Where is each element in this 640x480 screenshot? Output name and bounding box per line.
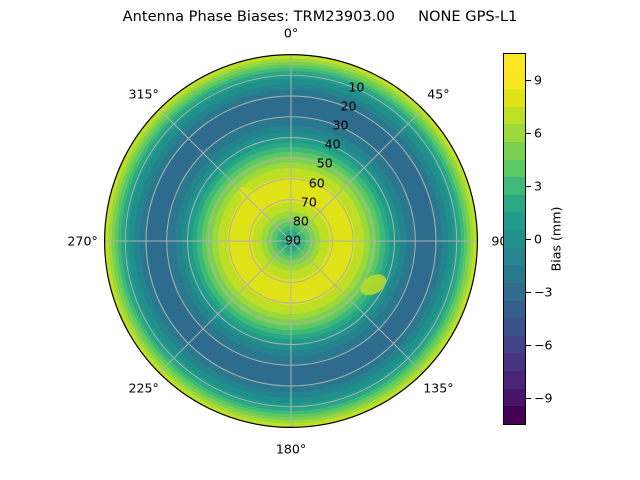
colorbar-tick bbox=[526, 133, 531, 134]
colorbar-band bbox=[504, 283, 525, 301]
radial-tick-label-60: 60 bbox=[309, 175, 325, 190]
colorbar-band bbox=[504, 54, 525, 72]
radial-tick-label-20: 20 bbox=[340, 99, 356, 114]
colorbar-tick bbox=[526, 292, 531, 293]
colorbar-tick bbox=[526, 186, 531, 187]
colorbar-band bbox=[504, 389, 525, 407]
colorbar-tick bbox=[526, 345, 531, 346]
colorbar-band bbox=[504, 124, 525, 142]
radial-tick-label-40: 40 bbox=[325, 137, 341, 152]
colorbar-tick-label: 3 bbox=[534, 178, 542, 193]
colorbar-tick bbox=[526, 398, 531, 399]
colorbar-band bbox=[504, 89, 525, 107]
radial-tick-label-80: 80 bbox=[293, 213, 309, 228]
radial-tick-label-70: 70 bbox=[301, 194, 317, 209]
colorbar-gradient bbox=[503, 53, 526, 425]
colorbar-tick-label: −6 bbox=[534, 338, 553, 353]
colorbar-band bbox=[504, 406, 525, 424]
colorbar-band bbox=[504, 265, 525, 283]
colorbar-band bbox=[504, 142, 525, 160]
theta-tick-label-180: 180° bbox=[276, 442, 306, 457]
theta-tick-label-45: 45° bbox=[427, 86, 449, 101]
theta-tick-label-0: 0° bbox=[284, 25, 298, 40]
theta-tick-label-315: 315° bbox=[128, 86, 158, 101]
colorbar-band bbox=[504, 248, 525, 266]
colorbar-axis-label: Bias (mm) bbox=[549, 207, 564, 272]
colorbar-tick bbox=[526, 239, 531, 240]
page-title: Antenna Phase Biases: TRM23903.00 NONE G… bbox=[0, 8, 640, 25]
colorbar-band bbox=[504, 72, 525, 90]
figure-canvas: Antenna Phase Biases: TRM23903.00 NONE G… bbox=[0, 0, 640, 480]
colorbar-band bbox=[504, 230, 525, 248]
colorbar-band bbox=[504, 353, 525, 371]
radial-tick-label-30: 30 bbox=[333, 118, 349, 133]
radial-tick-label-50: 50 bbox=[317, 156, 333, 171]
colorbar-band bbox=[504, 318, 525, 336]
colorbar-band bbox=[504, 336, 525, 354]
colorbar-tick bbox=[526, 80, 531, 81]
colorbar-band bbox=[504, 160, 525, 178]
theta-tick-label-270: 270° bbox=[67, 234, 97, 249]
colorbar: 9630−3−6−9 bbox=[503, 53, 526, 425]
colorbar-tick-label: 6 bbox=[534, 125, 542, 140]
colorbar-tick-label: 9 bbox=[534, 72, 542, 87]
colorbar-band bbox=[504, 107, 525, 125]
theta-tick-label-225: 225° bbox=[128, 381, 158, 396]
colorbar-tick-label: −9 bbox=[534, 391, 553, 406]
radial-tick-label-90: 90 bbox=[285, 233, 301, 248]
colorbar-band bbox=[504, 177, 525, 195]
theta-tick-label-135: 135° bbox=[423, 381, 453, 396]
radial-tick-label-10: 10 bbox=[348, 79, 364, 94]
colorbar-band bbox=[504, 301, 525, 319]
colorbar-band bbox=[504, 212, 525, 230]
colorbar-band bbox=[504, 195, 525, 213]
colorbar-tick-label: 0 bbox=[534, 232, 542, 247]
colorbar-band bbox=[504, 371, 525, 389]
colorbar-tick-label: −3 bbox=[534, 285, 553, 300]
